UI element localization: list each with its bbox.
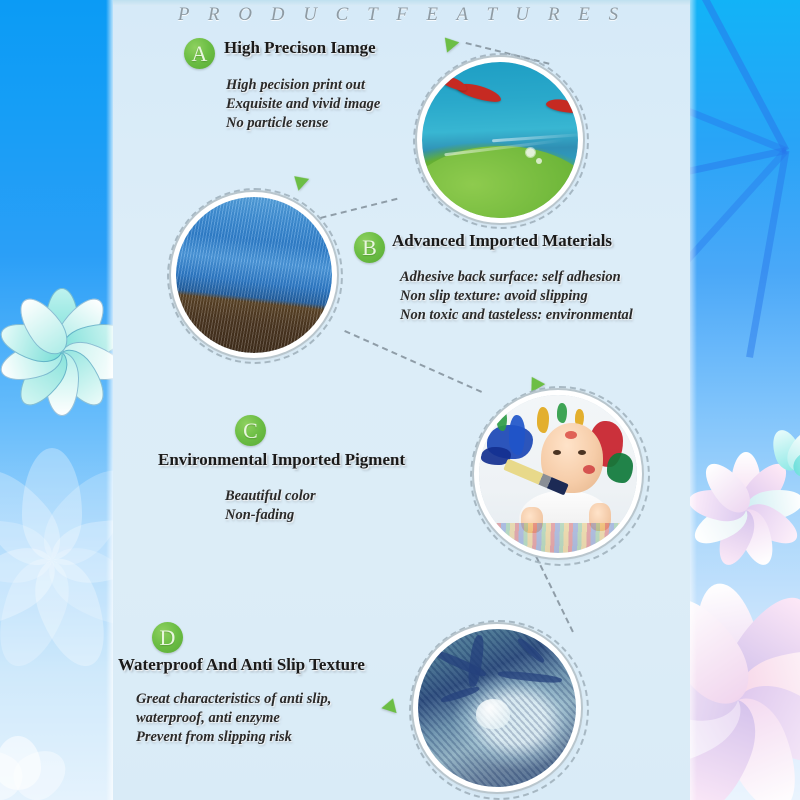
feature-line: Adhesive back surface: self adhesion <box>400 268 633 287</box>
left-floral-border <box>0 0 113 800</box>
feature-title-d: Waterproof And Anti Slip Texture <box>118 655 365 675</box>
right-floral-border <box>690 0 800 800</box>
feature-line: Prevent from slipping risk <box>136 728 331 747</box>
badge-c: C <box>235 415 266 446</box>
baby-painting-photo <box>479 395 637 553</box>
feature-body-a: High pecision print out Exquisite and vi… <box>226 76 380 133</box>
blue-fabric-texture-photo <box>176 197 332 353</box>
feature-title-b: Advanced Imported Materials <box>392 231 612 251</box>
badge-d: D <box>152 622 183 653</box>
waterproof-droplet-photo <box>418 629 576 787</box>
feature-line: Great characteristics of anti slip, <box>136 690 331 709</box>
koi-fish-print-photo <box>422 62 578 218</box>
feature-body-c: Beautiful color Non-fading <box>225 487 316 525</box>
feature-line: No particle sense <box>226 114 380 133</box>
product-features-poster: P R O D U C T F E A T U R E S A High Pre… <box>0 0 800 800</box>
right-band-edge <box>690 0 697 800</box>
page-title: P R O D U C T F E A T U R E S <box>113 4 690 26</box>
feature-line: High pecision print out <box>226 76 380 95</box>
feature-title-c: Environmental Imported Pigment <box>158 450 405 470</box>
feature-line: Non slip texture: avoid slipping <box>400 287 633 306</box>
feature-line: Exquisite and vivid image <box>226 95 380 114</box>
feature-title-a: High Precison Iamge <box>224 38 376 58</box>
badge-b: B <box>354 232 385 263</box>
badge-a: A <box>184 38 215 69</box>
feature-line: Non-fading <box>225 506 316 525</box>
left-band-edge <box>106 0 113 800</box>
feature-body-d: Great characteristics of anti slip, wate… <box>136 690 331 747</box>
feature-line: Beautiful color <box>225 487 316 506</box>
feature-line: waterproof, anti enzyme <box>136 709 331 728</box>
feature-body-b: Adhesive back surface: self adhesion Non… <box>400 268 633 325</box>
feature-line: Non toxic and tasteless: environmental <box>400 306 633 325</box>
